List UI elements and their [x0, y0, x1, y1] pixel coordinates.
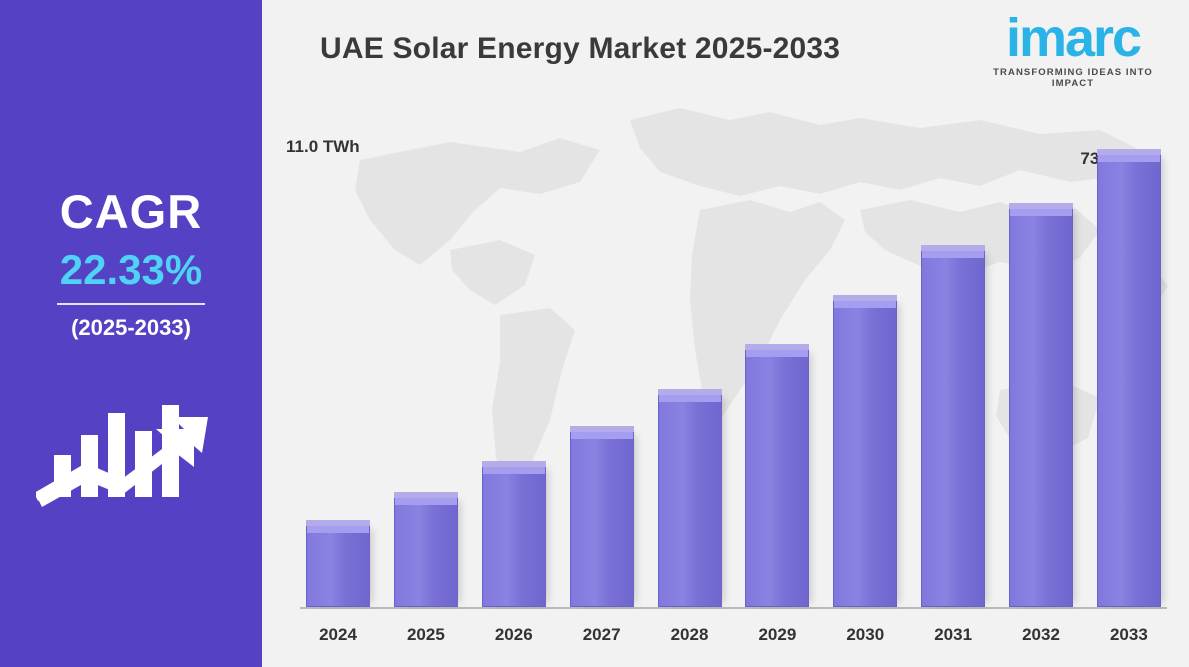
- bar-column: [739, 137, 815, 607]
- x-label-2025: 2025: [388, 625, 464, 645]
- bar-column: [1091, 137, 1167, 607]
- bar-2025: [394, 497, 458, 607]
- bar-2026: [482, 466, 546, 607]
- cagr-divider: [57, 303, 205, 305]
- cagr-label: CAGR: [60, 188, 202, 235]
- chart-plot-area: 11.0 TWh 73.5 TWh 2024 2025 2026 2027 20…: [262, 0, 1189, 667]
- bar-series: [300, 137, 1167, 607]
- bar-2028: [658, 394, 722, 608]
- x-label-2027: 2027: [564, 625, 640, 645]
- x-label-2029: 2029: [739, 625, 815, 645]
- bar-2029: [745, 349, 809, 607]
- bar-column: [915, 137, 991, 607]
- infographic-page: CAGR 22.33% (2025-2033) UAE Solar Energy…: [0, 0, 1189, 667]
- bar-column: [300, 137, 376, 607]
- x-label-2026: 2026: [476, 625, 552, 645]
- x-axis-labels: 2024 2025 2026 2027 2028 2029 2030 2031 …: [300, 621, 1167, 649]
- bar-2031: [921, 250, 985, 607]
- bar-2027: [570, 431, 634, 607]
- bar-column: [652, 137, 728, 607]
- x-label-2032: 2032: [1003, 625, 1079, 645]
- bar-2032: [1009, 208, 1073, 607]
- cagr-value: 22.33%: [60, 249, 202, 291]
- x-label-2031: 2031: [915, 625, 991, 645]
- x-label-2024: 2024: [300, 625, 376, 645]
- bar-2030: [833, 300, 897, 608]
- x-label-2030: 2030: [827, 625, 903, 645]
- bar-growth-arrow-icon: [36, 383, 226, 528]
- x-axis-line: [300, 607, 1167, 609]
- x-label-2028: 2028: [652, 625, 728, 645]
- cagr-panel: CAGR 22.33% (2025-2033): [0, 0, 262, 667]
- bar-column: [388, 137, 464, 607]
- bar-2033: [1097, 154, 1161, 607]
- x-label-2033: 2033: [1091, 625, 1167, 645]
- bar-column: [1003, 137, 1079, 607]
- bar-2024: [306, 525, 370, 607]
- bar-column: [476, 137, 552, 607]
- bar-column: [827, 137, 903, 607]
- cagr-period: (2025-2033): [71, 315, 191, 341]
- bar-column: [564, 137, 640, 607]
